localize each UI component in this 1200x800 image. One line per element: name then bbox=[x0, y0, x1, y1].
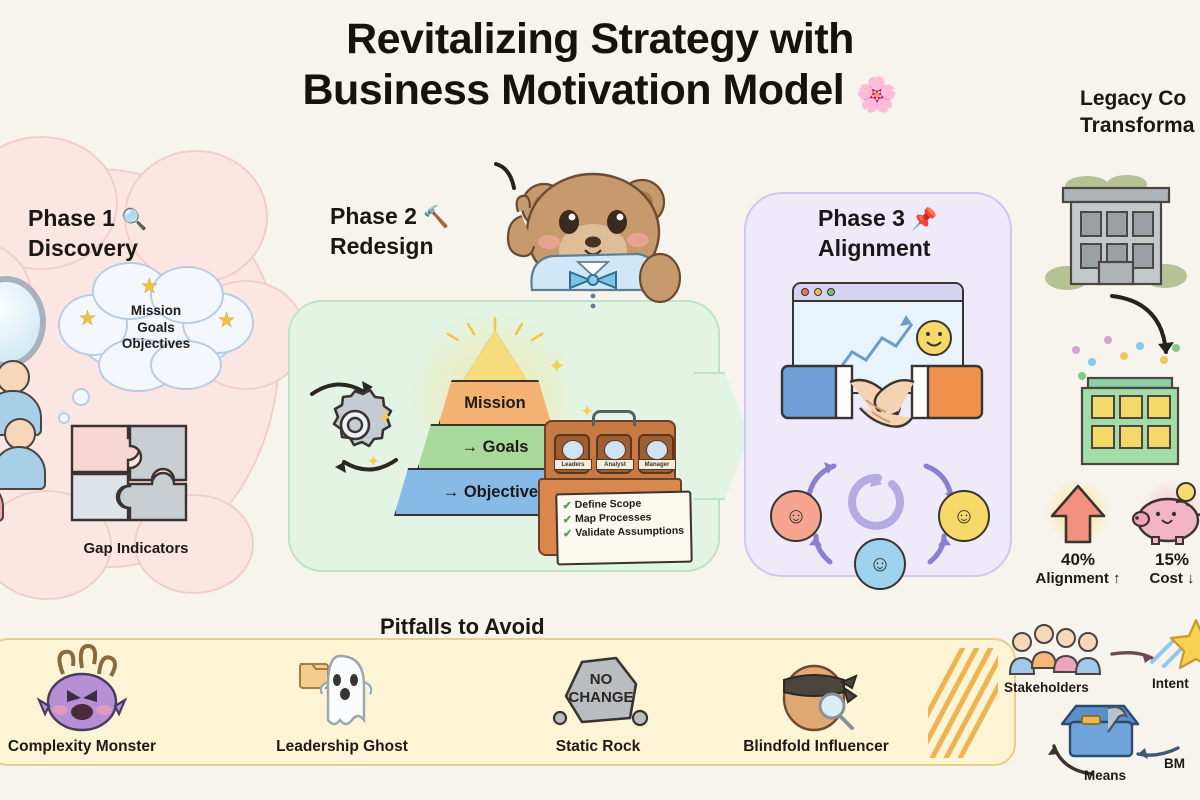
pitfall-blindfold-influencer: Blindfold Influencer bbox=[726, 648, 906, 756]
window-maximize-dot[interactable] bbox=[827, 288, 835, 296]
svg-text:CHANGE: CHANGE bbox=[568, 689, 633, 706]
right-title-line-1: Legacy Co bbox=[1080, 87, 1186, 110]
metric-cost: 15% Cost ↓ bbox=[1124, 482, 1200, 587]
magnifier-icon: 🔍 bbox=[121, 208, 147, 231]
up-arrow-icon bbox=[1030, 482, 1126, 546]
pyramid-tier-mission: Mission bbox=[438, 380, 552, 426]
title-line-1: Revitalizing Strategy with bbox=[346, 15, 854, 63]
phase-3-name: Alignment bbox=[818, 235, 930, 261]
thought-item-objectives: Objectives bbox=[122, 336, 190, 352]
window-minimize-dot[interactable] bbox=[814, 288, 822, 296]
thought-bubble-dot-large bbox=[72, 388, 90, 406]
pitfall-static-rock: NO CHANGE Static Rock bbox=[508, 648, 688, 756]
checklist-card: ✔ Define Scope ✔ Map Processes ✔ Validat… bbox=[555, 491, 692, 566]
face-icon-left: ☺ bbox=[770, 490, 822, 542]
sparkle-icon-left-2: ✦ bbox=[366, 452, 380, 472]
metric-cost-label: Cost ↓ bbox=[1124, 570, 1200, 587]
phase-1-label: Phase 1 🔍 Discovery bbox=[28, 204, 148, 263]
star-icon-left: ★ bbox=[78, 306, 97, 331]
sparkle-icon-apex: ✦ bbox=[548, 354, 566, 379]
pitfall-leadership-ghost: Leadership Ghost bbox=[252, 648, 432, 756]
alignment-cycle: ☺ ☺ ☺ bbox=[770, 450, 990, 570]
phase-2-to-3-arrow bbox=[694, 372, 750, 500]
modern-building-icon bbox=[1068, 336, 1188, 468]
checklist-item-2: ✔ Validate Assumptions bbox=[563, 526, 686, 541]
metric-alignment: 40% Alignment ↑ bbox=[1030, 482, 1126, 587]
puzzle-pieces-art bbox=[68, 418, 206, 536]
toolbox-badge-0: Leaders bbox=[554, 434, 590, 474]
thought-cloud: Mission Goals Objectives ★ ★ ★ bbox=[72, 280, 240, 376]
thought-item-goals: Goals bbox=[137, 320, 175, 336]
pitfall-complexity-monster: Complexity Monster bbox=[0, 648, 172, 756]
phase-1-name: Discovery bbox=[28, 235, 138, 261]
phase-3-number: Phase 3 bbox=[818, 205, 905, 231]
toolbox-icon bbox=[1056, 694, 1146, 766]
phase-1-number: Phase 1 bbox=[28, 205, 115, 231]
pyramid-goals-label: Goals bbox=[483, 438, 529, 457]
phase-3-label: Phase 3 📌 Alignment bbox=[818, 204, 938, 263]
infographic-canvas: Revitalizing Strategy with Business Moti… bbox=[0, 0, 1200, 800]
piggy-bank-icon bbox=[1124, 482, 1200, 546]
phase-2-label: Phase 2 🔨 Redesign bbox=[330, 202, 450, 261]
window-titlebar bbox=[794, 284, 962, 302]
right-column-title: Legacy Co Transforma bbox=[1080, 86, 1200, 140]
handshake-art bbox=[782, 360, 982, 450]
gap-indicators-caption: Gap Indicators bbox=[36, 540, 236, 557]
phase-2-number: Phase 2 bbox=[330, 203, 417, 229]
window-close-dot[interactable] bbox=[801, 288, 809, 296]
metric-alignment-label: Alignment ↑ bbox=[1030, 570, 1126, 587]
bmm-label-stakeholders: Stakeholders bbox=[1004, 680, 1089, 695]
bear-mascot bbox=[492, 150, 698, 340]
pitfall-label-0: Complexity Monster bbox=[0, 738, 172, 756]
pyramid-goals-arrow: → bbox=[462, 438, 479, 457]
bmm-label-bm: BM bbox=[1164, 756, 1185, 771]
checklist-item-1: ✔ Map Processes bbox=[563, 512, 686, 527]
pitfall-label-1: Leadership Ghost bbox=[252, 738, 432, 756]
toolbox-lid: Leaders Analyst Manager bbox=[544, 420, 676, 484]
pitfalls-title: Pitfalls to Avoid bbox=[380, 614, 545, 640]
pitfall-label-3: Blindfold Influencer bbox=[726, 738, 906, 756]
toolbox-badge-2: Manager bbox=[638, 434, 674, 474]
svg-text:NO: NO bbox=[590, 671, 613, 688]
shooting-star-icon bbox=[1148, 616, 1200, 668]
phase-2-name: Redesign bbox=[330, 233, 434, 259]
hammer-icon: 🔨 bbox=[423, 206, 449, 229]
pitfall-label-2: Static Rock bbox=[508, 738, 688, 756]
people-group-icon bbox=[1004, 624, 1108, 682]
sparkle-icon-left-1: ✦ bbox=[378, 408, 392, 428]
toolbox-art: Leaders Analyst Manager ✔ Define Scope ✔… bbox=[538, 420, 682, 565]
bmm-label-intent: Intent bbox=[1152, 676, 1189, 691]
check-icon-0: ✔ bbox=[562, 500, 571, 512]
face-icon-right: ☺ bbox=[938, 490, 990, 542]
pushpin-icon: 📌 bbox=[911, 208, 937, 231]
star-icon-right: ★ bbox=[217, 308, 236, 333]
bmm-label-means: Means bbox=[1084, 768, 1126, 783]
star-icon-top: ★ bbox=[140, 274, 159, 299]
check-icon-1: ✔ bbox=[563, 514, 572, 526]
bmm-cycle-diagram: Stakeholders Intent BM Means bbox=[1000, 632, 1200, 800]
pyramid-objectives-label: Objectives bbox=[464, 483, 547, 502]
title-line-2: Business Motivation Model bbox=[302, 66, 844, 114]
thought-bubble-dot-small bbox=[58, 412, 70, 424]
thought-item-mission: Mission bbox=[131, 303, 181, 319]
check-icon-2: ✔ bbox=[563, 528, 572, 540]
page-title: Revitalizing Strategy with Business Moti… bbox=[270, 14, 930, 115]
cherry-blossom-icon: 🌸 bbox=[856, 76, 898, 114]
metric-cost-value: 15% bbox=[1124, 550, 1200, 570]
pyramid-mission-label: Mission bbox=[464, 394, 525, 413]
legacy-building-icon bbox=[1057, 170, 1175, 292]
metric-alignment-value: 40% bbox=[1030, 550, 1126, 570]
face-icon-bottom: ☺ bbox=[854, 538, 906, 590]
right-title-line-2: Transforma bbox=[1080, 114, 1194, 137]
checklist-item-0: ✔ Define Scope bbox=[562, 498, 685, 513]
banner-hatching bbox=[928, 648, 998, 758]
pyramid-objectives-arrow: → bbox=[443, 483, 460, 502]
toolbox-badge-1: Analyst bbox=[596, 434, 632, 474]
